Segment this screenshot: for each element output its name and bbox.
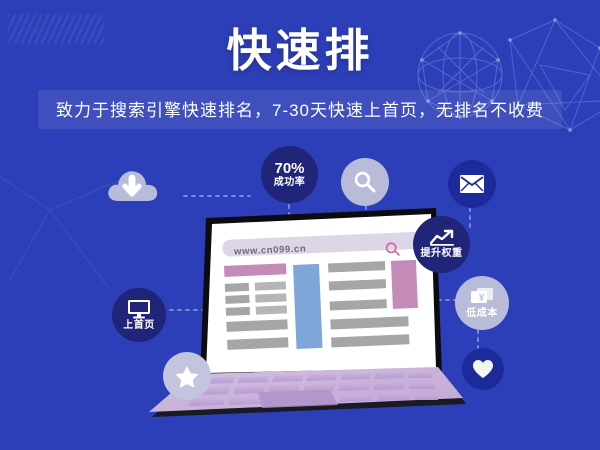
badge-low-cost[interactable]: ¥ 低成本	[455, 276, 509, 330]
star-icon	[174, 364, 200, 389]
badge-homepage[interactable]: 上首页	[112, 288, 166, 342]
laptop-illustration	[0, 0, 600, 450]
success-rate-label: 成功率	[274, 177, 306, 189]
badge-cloud-download[interactable]	[104, 156, 160, 212]
badge-success-rate[interactable]: 70% 成功率	[261, 146, 318, 203]
svg-text:¥: ¥	[479, 292, 484, 302]
weight-boost-label: 提升权重	[421, 248, 463, 260]
success-rate-value: 70%	[274, 161, 304, 178]
money-card-icon: ¥	[469, 287, 495, 307]
cloud-download-icon	[104, 161, 160, 207]
badge-mail[interactable]	[448, 160, 496, 208]
badge-search[interactable]	[341, 158, 389, 206]
heart-icon	[472, 359, 494, 379]
search-icon	[352, 169, 378, 195]
monitor-icon	[127, 299, 151, 319]
badge-weight-boost[interactable]: 提升权重	[413, 216, 470, 273]
badge-heart[interactable]	[462, 348, 504, 390]
low-cost-label: 低成本	[466, 308, 498, 320]
banner-root: 快速排 致力于搜索引擎快速排名，7-30天快速上首页，无排名不收费	[0, 0, 600, 450]
trackpad	[258, 390, 338, 408]
homepage-label: 上首页	[123, 320, 155, 332]
badge-star[interactable]	[163, 352, 211, 400]
trending-up-icon	[429, 229, 455, 246]
envelope-icon	[459, 174, 485, 194]
